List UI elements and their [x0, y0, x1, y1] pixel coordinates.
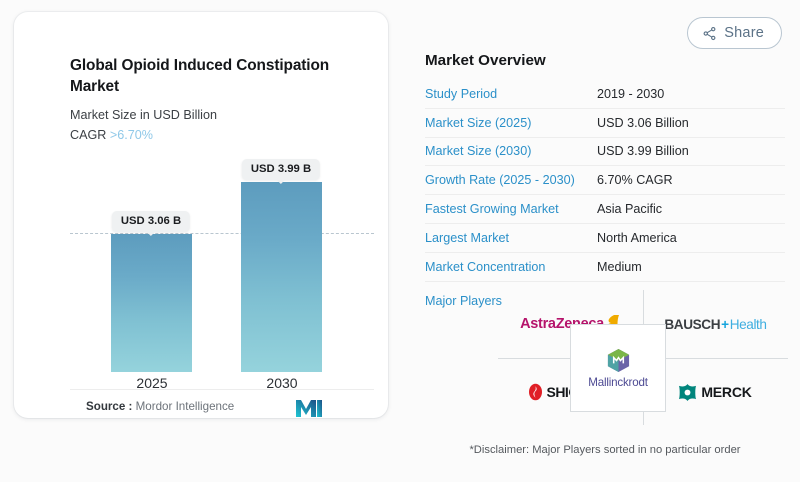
row-value: 2019 - 2030 [597, 87, 664, 101]
bar-chart-plot: USD 3.06 B USD 3.99 B 2025 2030 [14, 12, 388, 418]
row-key: Market Size (2030) [425, 144, 597, 158]
bar-label-2030: USD 3.99 B [242, 159, 320, 180]
bar-2025[interactable] [111, 234, 192, 372]
market-overview-title: Market Overview [425, 52, 546, 69]
row-value: USD 3.06 Billion [597, 116, 689, 130]
source-label: Source : [86, 400, 132, 413]
table-row: Study Period 2019 - 2030 [425, 80, 785, 109]
source-line: Source : Mordor Intelligence [86, 400, 234, 413]
table-row: Market Size (2025) USD 3.06 Billion [425, 109, 785, 138]
bar-2030[interactable] [241, 182, 322, 372]
share-nodes-icon [702, 26, 717, 41]
health-wordmark: Health [730, 317, 767, 332]
bausch-health-logo: BAUSCH+Health [664, 317, 766, 332]
row-key: Study Period [425, 87, 597, 101]
source-divider [70, 389, 374, 390]
mallinckrodt-mark-icon [606, 348, 631, 373]
merck-wordmark: MERCK [701, 384, 751, 400]
row-value: North America [597, 231, 677, 245]
row-value: Medium [597, 260, 642, 274]
table-row: Market Concentration Medium [425, 253, 785, 282]
disclaimer-text: *Disclaimer: Major Players sorted in no … [425, 444, 785, 456]
table-row: Growth Rate (2025 - 2030) 6.70% CAGR [425, 166, 785, 195]
source-name: Mordor Intelligence [136, 400, 235, 413]
market-overview-table: Study Period 2019 - 2030 Market Size (20… [425, 80, 785, 282]
chart-card: Global Opioid Induced Constipation Marke… [14, 12, 388, 418]
row-key: Market Size (2025) [425, 116, 597, 130]
row-key: Fastest Growing Market [425, 202, 597, 216]
merck-mark-icon [679, 384, 696, 401]
merck-logo: MERCK [679, 384, 751, 401]
bar-label-2025: USD 3.06 B [112, 211, 190, 232]
player-mallinckrodt: Mallinckrodt [570, 324, 666, 412]
row-key: Largest Market [425, 231, 597, 245]
mallinckrodt-wordmark: Mallinckrodt [588, 376, 647, 389]
shionogi-mark-icon [528, 383, 543, 401]
share-button-label: Share [724, 25, 764, 41]
major-players-label: Major Players [425, 294, 502, 308]
row-value: Asia Pacific [597, 202, 662, 216]
row-value: USD 3.99 Billion [597, 144, 689, 158]
row-key: Market Concentration [425, 260, 597, 274]
bausch-plus-icon: + [721, 317, 729, 332]
row-value: 6.70% CAGR [597, 173, 673, 187]
bausch-wordmark: BAUSCH [664, 317, 720, 332]
table-row: Fastest Growing Market Asia Pacific [425, 195, 785, 224]
row-key: Growth Rate (2025 - 2030) [425, 173, 597, 187]
share-button[interactable]: Share [687, 17, 782, 49]
table-row: Market Size (2030) USD 3.99 Billion [425, 138, 785, 167]
table-row: Largest Market North America [425, 224, 785, 253]
mordor-intelligence-logo [296, 400, 322, 422]
major-players-grid: AstraZeneca BAUSCH+Health SHIONOGI [498, 290, 788, 425]
market-report-widget: Share Global Opioid Induced Constipation… [0, 0, 800, 482]
